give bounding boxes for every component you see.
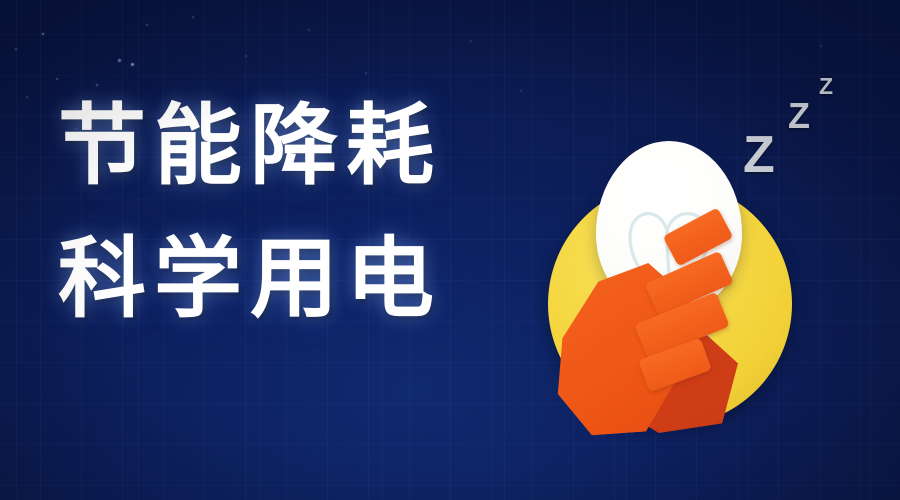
headline-line-1: 节能降耗 (58, 98, 488, 193)
illustration-group: Z Z Z (510, 55, 900, 455)
poster-canvas: 节能降耗 科学用电 Z Z Z (0, 0, 900, 500)
headline-block: 节能降耗 科学用电 (58, 98, 488, 326)
sleep-z-small-icon: Z (819, 73, 833, 100)
sleep-z-medium-icon: Z (788, 95, 810, 137)
sleep-z-large-icon: Z (743, 125, 775, 185)
headline-line-2: 科学用电 (58, 231, 488, 326)
